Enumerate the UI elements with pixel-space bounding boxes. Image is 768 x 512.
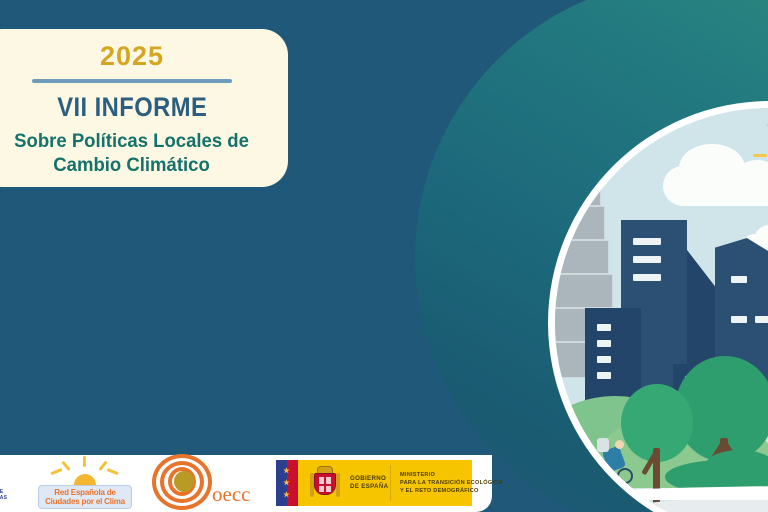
- star-icon: [283, 479, 290, 486]
- logo-red-espanola-ciudades-clima: Red Española de Ciudades por el Clima: [36, 456, 134, 510]
- spain-flag-bar: [276, 460, 298, 506]
- star-icon: [283, 467, 290, 474]
- ministerio-line2: PARA LA TRANSICIÓN ECOLÓGICA: [400, 479, 503, 487]
- circular-illustration: [415, 0, 768, 512]
- red-espanola-label-box: Red Española de Ciudades por el Clima: [38, 485, 132, 509]
- coat-of-arms-icon: [310, 465, 340, 501]
- report-year: 2025: [100, 43, 164, 70]
- report-subtitle: Sobre Políticas Locales de Cambio Climát…: [8, 121, 255, 177]
- partial-logo-left: DE DAS: [0, 478, 34, 512]
- ministerio-line1: MINISTERIO: [400, 471, 503, 479]
- logo-oecc: oecc: [152, 452, 264, 510]
- ministerio-line3: Y EL RETO DEMOGRÁFICO: [400, 487, 503, 495]
- report-subtitle-line2: Cambio Climático: [15, 154, 250, 176]
- gobierno-panel: GOBIERNO DE ESPAÑA MINISTERIO PARA LA TR…: [298, 460, 472, 506]
- gobierno-line2: DE ESPAÑA: [350, 483, 388, 491]
- partial-logo-line2: DAS: [0, 495, 7, 501]
- logo-gobierno-espana: GOBIERNO DE ESPAÑA MINISTERIO PARA LA TR…: [276, 460, 472, 506]
- poster-canvas: 2025 VII INFORME Sobre Políticas Locales…: [0, 0, 768, 512]
- illustration-scene: [555, 108, 768, 512]
- star-icon: [283, 491, 290, 498]
- gobierno-divider: [390, 465, 391, 501]
- title-divider: [32, 79, 232, 83]
- report-subtitle-line1: Sobre Políticas Locales de: [15, 130, 250, 152]
- red-espanola-line1: Red Española de: [54, 488, 115, 497]
- ministerio-text: MINISTERIO PARA LA TRANSICIÓN ECOLÓGICA …: [400, 471, 503, 495]
- report-title: VII INFORME: [57, 94, 207, 121]
- gobierno-text: GOBIERNO DE ESPAÑA: [350, 475, 388, 491]
- gobierno-line1: GOBIERNO: [350, 475, 388, 483]
- oecc-center-dot: [174, 471, 194, 492]
- red-espanola-line2: Ciudades por el Clima: [45, 497, 125, 506]
- oecc-wordmark: oecc: [212, 484, 250, 505]
- title-card: 2025 VII INFORME Sobre Políticas Locales…: [0, 29, 288, 187]
